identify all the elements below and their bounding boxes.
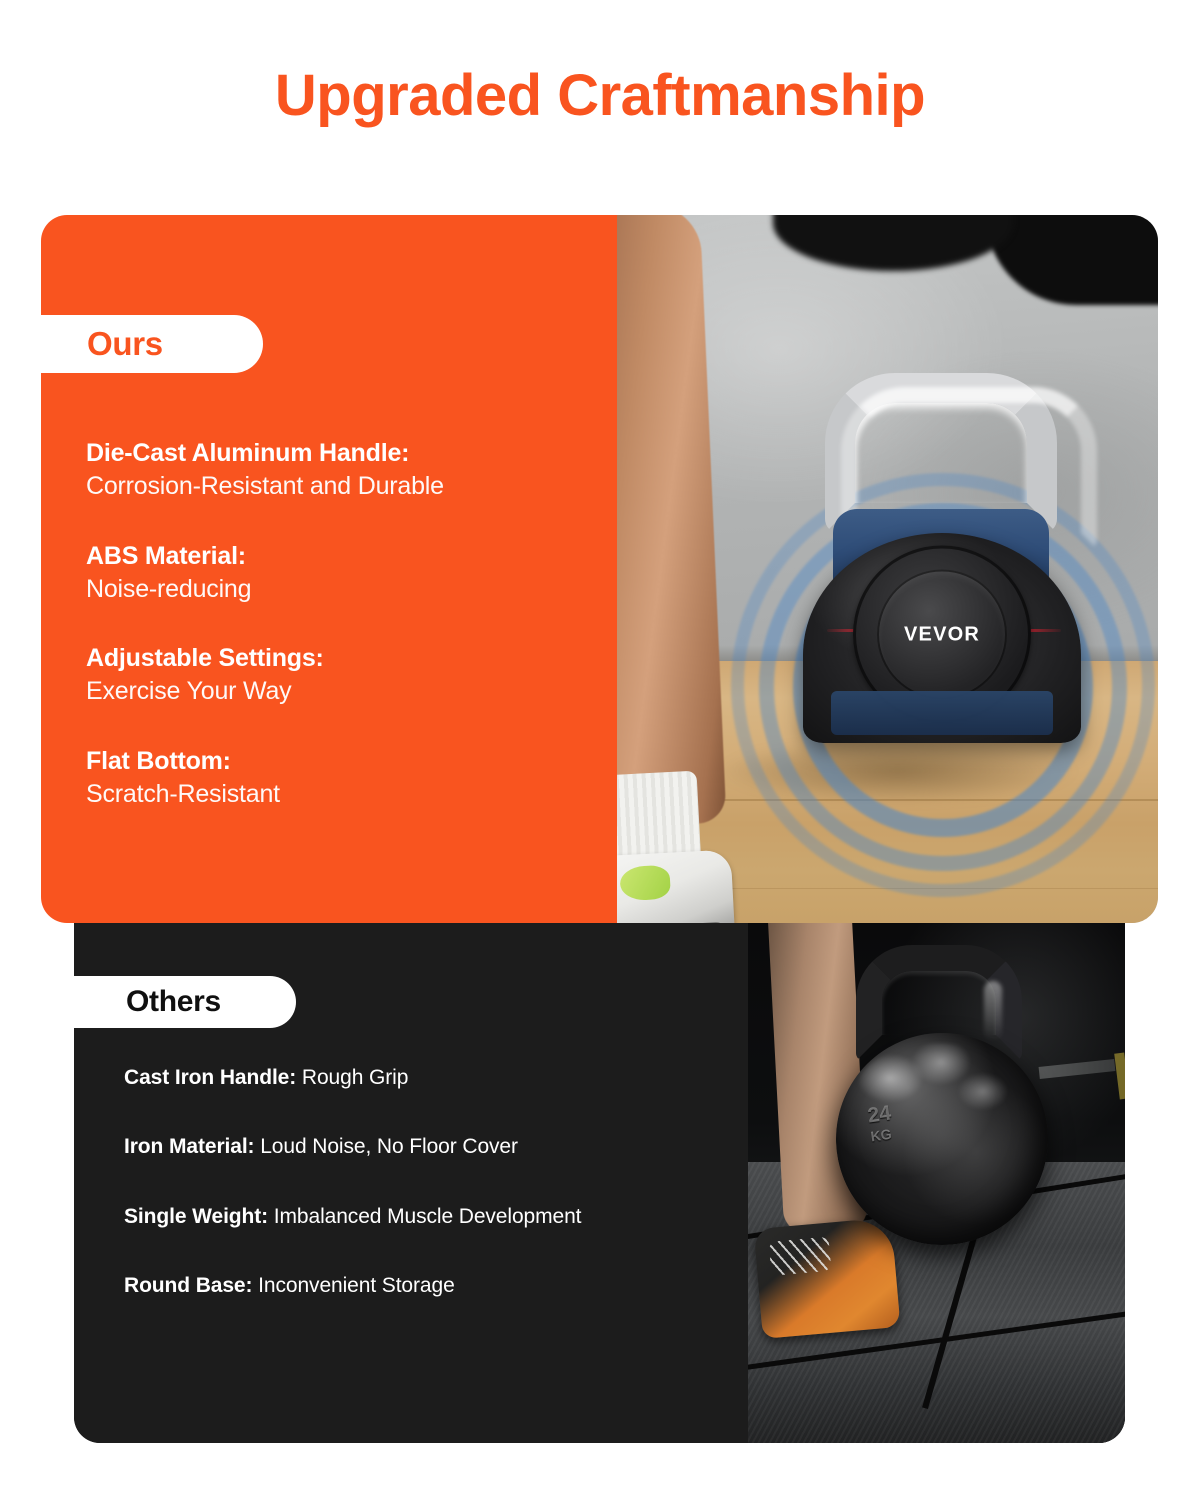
- ours-feature-item: Flat Bottom: Scratch-Resistant: [86, 745, 606, 812]
- vevor-kettlebell-scene: VEVOR: [617, 215, 1158, 923]
- others-product-photo: 24 KG: [748, 923, 1125, 1443]
- kettlebell-flat-base: [831, 691, 1053, 735]
- others-feature-desc: Imbalanced Muscle Development: [274, 1205, 582, 1228]
- ours-feature-list: Die-Cast Aluminum Handle: Corrosion-Resi…: [86, 437, 606, 811]
- comparison-infographic: Upgraded Craftmanship Ours Die-Cast Alum…: [0, 0, 1200, 1500]
- others-feature-title: Single Weight:: [124, 1205, 268, 1228]
- vevor-logo: VEVOR: [904, 623, 980, 646]
- others-feature-desc: Inconvenient Storage: [258, 1274, 454, 1297]
- kettlebell-round-base: 24 KG: [836, 1033, 1048, 1245]
- ours-product-photo: VEVOR: [617, 215, 1158, 923]
- others-badge-label: Others: [126, 985, 221, 1019]
- others-feature-desc: Rough Grip: [302, 1066, 408, 1089]
- vevor-kettlebell: VEVOR: [775, 373, 1105, 733]
- kettlebell-center-cap: VEVOR: [877, 569, 1007, 699]
- others-feature-item: Cast Iron Handle: Rough Grip: [124, 1065, 744, 1091]
- ours-card: Ours Die-Cast Aluminum Handle: Corrosion…: [41, 215, 1158, 923]
- cast-iron-kettlebell-scene: 24 KG: [748, 923, 1125, 1443]
- ours-feature-desc: Noise-reducing: [86, 573, 606, 607]
- ours-feature-item: ABS Material: Noise-reducing: [86, 540, 606, 607]
- athlete-shoe: [617, 849, 735, 923]
- ours-feature-item: Adjustable Settings: Exercise Your Way: [86, 642, 606, 709]
- cast-iron-kettlebell: 24 KG: [822, 937, 1052, 1267]
- ours-feature-title: Flat Bottom:: [86, 745, 606, 778]
- others-feature-list: Cast Iron Handle: Rough Grip Iron Materi…: [124, 1065, 744, 1299]
- ours-feature-title: Die-Cast Aluminum Handle:: [86, 437, 606, 470]
- ours-feature-desc: Exercise Your Way: [86, 675, 606, 709]
- ours-feature-desc: Corrosion-Resistant and Durable: [86, 470, 606, 504]
- ours-feature-title: ABS Material:: [86, 540, 606, 573]
- ours-feature-title: Adjustable Settings:: [86, 642, 606, 675]
- others-feature-title: Cast Iron Handle:: [124, 1066, 296, 1089]
- weight-value: 24: [866, 1102, 892, 1128]
- ours-badge: Ours: [41, 315, 263, 373]
- page-title: Upgraded Craftmanship: [0, 62, 1200, 129]
- ours-content-panel: Ours Die-Cast Aluminum Handle: Corrosion…: [41, 215, 617, 923]
- weight-marking: 24 KG: [866, 1094, 954, 1165]
- others-feature-item: Iron Material: Loud Noise, No Floor Cove…: [124, 1134, 744, 1160]
- others-feature-item: Single Weight: Imbalanced Muscle Develop…: [124, 1204, 744, 1230]
- others-content-panel: Others Cast Iron Handle: Rough Grip Iron…: [74, 923, 748, 1443]
- others-feature-title: Iron Material:: [124, 1135, 254, 1158]
- others-badge: Others: [74, 976, 296, 1028]
- others-card: Others Cast Iron Handle: Rough Grip Iron…: [74, 923, 1125, 1443]
- ours-badge-label: Ours: [87, 325, 163, 363]
- ours-feature-desc: Scratch-Resistant: [86, 778, 606, 812]
- ours-feature-item: Die-Cast Aluminum Handle: Corrosion-Resi…: [86, 437, 606, 504]
- others-feature-title: Round Base:: [124, 1274, 252, 1297]
- others-feature-item: Round Base: Inconvenient Storage: [124, 1273, 744, 1299]
- others-feature-desc: Loud Noise, No Floor Cover: [260, 1135, 518, 1158]
